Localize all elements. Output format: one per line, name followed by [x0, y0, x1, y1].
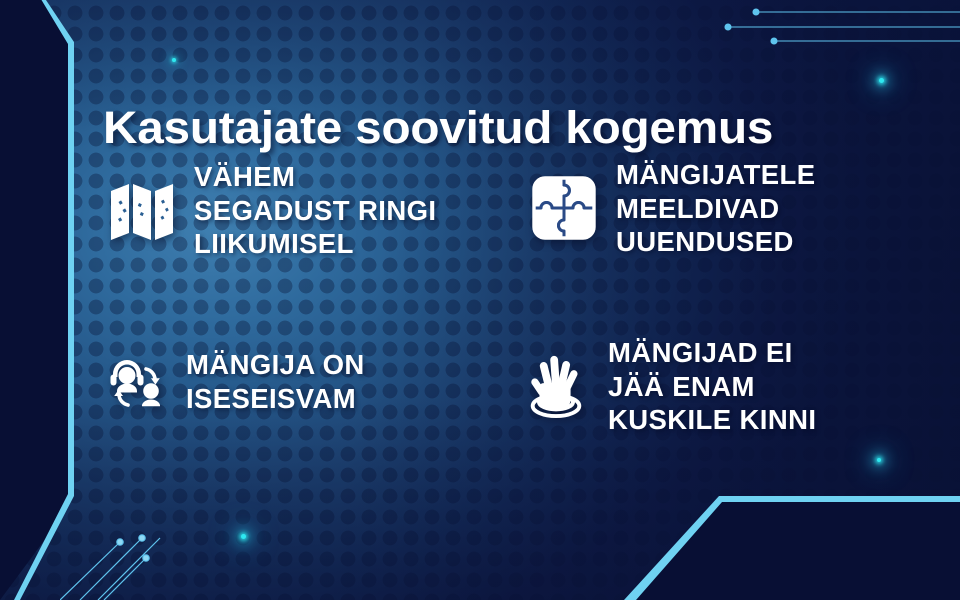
feature-item-no-stuck: Mängijad ei jää enam kuskile kinni [522, 336, 816, 437]
feature-item-navigation: Vähem segadust ringi liikumisel [108, 160, 436, 261]
feature-item-independence: Mängija on iseseisvam [106, 348, 365, 415]
feature-item-updates: Mängijatele meeldivad uuendused [530, 158, 815, 259]
drowning-hand-icon [522, 350, 590, 422]
feature-grid: Vähem segadust ringi liikumisel [0, 0, 960, 600]
puzzle-pieces-icon [530, 172, 598, 244]
feature-label-no-stuck: Mängijad ei jää enam kuskile kinni [608, 336, 816, 437]
support-agent-swap-icon [106, 349, 168, 415]
feature-label-navigation: Vähem segadust ringi liikumisel [194, 160, 436, 261]
feature-label-updates: Mängijatele meeldivad uuendused [616, 158, 815, 259]
presentation-slide: Kasutajate soovitud kogemus [0, 0, 960, 600]
folded-map-icon [108, 174, 176, 246]
feature-label-independence: Mängija on iseseisvam [186, 348, 365, 415]
